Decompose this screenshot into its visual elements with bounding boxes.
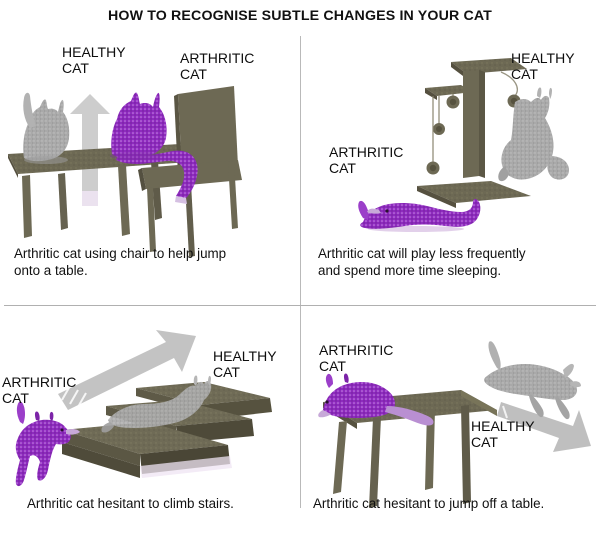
- panel-caption: Arthritic cat hesitant to climb stairs.: [27, 496, 295, 513]
- panel-top-left: HEALTHY CAT ARTHRITIC CAT Arthritic cat …: [0, 36, 300, 305]
- panel-caption: Arthritic cat will play less frequently …: [318, 246, 596, 279]
- infographic-poster: HOW TO RECOGNISE SUBTLE CHANGES IN YOUR …: [0, 0, 600, 540]
- panel-caption: Arthritic cat using chair to help jump o…: [14, 246, 296, 279]
- arthritic-cat-label: ARTHRITIC CAT: [180, 50, 254, 82]
- panel-bottom-right: ARTHRITIC CAT HEALTHY CAT Arthritic cat …: [301, 306, 600, 540]
- arthritic-cat-label: ARTHRITIC CAT: [319, 342, 393, 374]
- healthy-cat-leaping: [484, 341, 581, 419]
- panel-caption: Arthritic cat hesitant to jump off a tab…: [313, 496, 600, 513]
- panel-bottom-left: ARTHRITIC CAT HEALTHY CAT Arthritic cat …: [0, 306, 300, 540]
- healthy-cat-label: HEALTHY CAT: [511, 50, 575, 82]
- panel-top-right: HEALTHY CAT ARTHRITIC CAT Arthritic cat …: [301, 36, 600, 305]
- healthy-cat-label: HEALTHY CAT: [213, 348, 277, 380]
- arthritic-cat-label: ARTHRITIC CAT: [2, 374, 76, 406]
- healthy-cat-label: HEALTHY CAT: [471, 418, 535, 450]
- page-title: HOW TO RECOGNISE SUBTLE CHANGES IN YOUR …: [0, 8, 600, 24]
- healthy-cat-label: HEALTHY CAT: [62, 44, 126, 76]
- arthritic-cat-sleeping: [358, 199, 480, 232]
- arthritic-cat-label: ARTHRITIC CAT: [329, 144, 403, 176]
